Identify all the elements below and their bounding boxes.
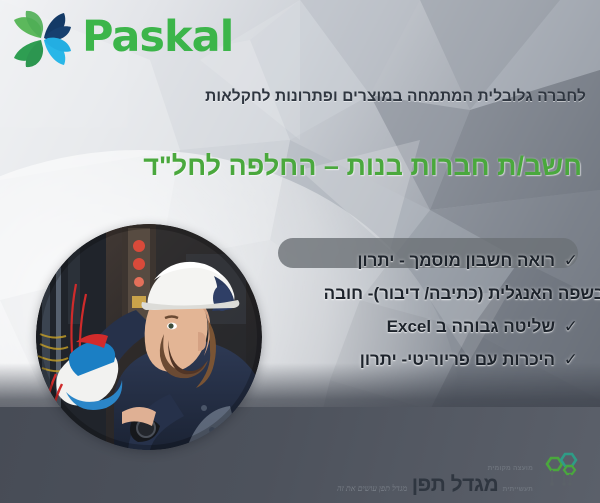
page-title: חשב/ת חברות בנות – החלפה לחל"ד [60,150,582,184]
four-petal-leaf-icon [10,8,76,70]
paskal-logo: Paskal [10,8,233,70]
tefen-tagline: מגדל תפן עושים את זה [337,484,407,493]
subtitle: לחברה גלובלית המתמחה במוצרים ופתרונות לח… [205,88,586,106]
tefen-subtitle-1: מועצה מקומית [488,465,533,472]
technician-photo [36,224,262,450]
list-item-label: היכרות עם פריוריטי- יתרון [360,350,555,369]
check-icon: ✓ [564,251,578,270]
list-item-label: שליטה גבוהה ב Excel [387,317,555,336]
header: Paskal [0,0,600,78]
tefen-text: מועצה מקומית תעשייתית מגדל תפן מגדל תפן … [337,458,533,495]
check-icon: ✓ [564,350,578,369]
list-item: ✓ שליטה גבוהה ב Excel [248,318,578,335]
list-item: ✓ רואה חשבון מוסמך - יתרון [248,252,578,269]
tefen-gears-icon [540,451,580,495]
list-item-label: רואה חשבון מוסמך - יתרון [357,251,555,270]
list-item: ✓ שליטה טובה בשפה האנגלית (כתיבה/ דיבור)… [248,285,600,302]
check-icon: ✓ [564,317,578,336]
migdal-tefen-logo: מועצה מקומית תעשייתית מגדל תפן מגדל תפן … [337,451,580,495]
tefen-name: מגדל תפן [412,473,498,496]
tefen-subtitle-2: תעשייתית [503,486,533,493]
job-ad-poster: Paskal לחברה גלובלית המתמחה במוצרים ופתר… [0,0,600,503]
brand-wordmark: Paskal [82,16,233,59]
list-item-label: שליטה טובה בשפה האנגלית (כתיבה/ דיבור)- … [324,284,600,303]
list-item: ✓ היכרות עם פריוריטי- יתרון [248,351,578,368]
requirements-list: ✓ רואה חשבון מוסמך - יתרון ✓ שליטה טובה … [248,252,578,384]
